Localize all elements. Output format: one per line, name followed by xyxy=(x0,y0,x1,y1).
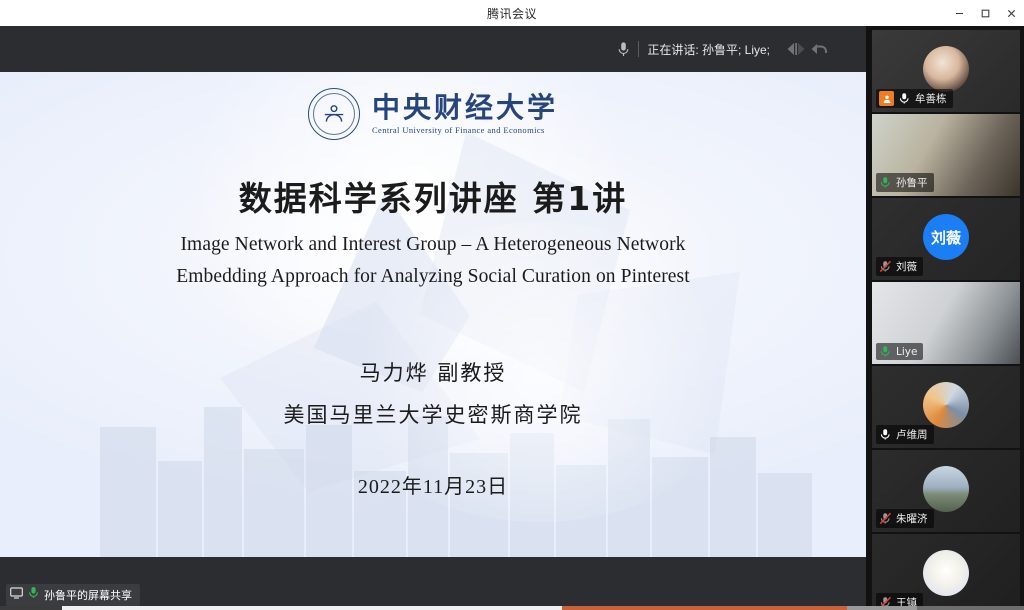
participant-tile[interactable]: 王镇 xyxy=(872,534,1020,610)
slide-paper-title: Image Network and Interest Group – A Het… xyxy=(0,229,866,292)
microphone-muted-icon xyxy=(879,512,892,525)
screen-share-status-bar: 孙鲁平的屏幕共享 xyxy=(0,584,866,606)
participant-name: 朱曜济 xyxy=(896,511,928,526)
participant-tile[interactable]: 孙鲁平 xyxy=(872,114,1020,196)
speaking-indicator: 正在讲话: 孙鲁平; Liye; xyxy=(610,35,830,63)
microphone-icon xyxy=(28,586,39,604)
microphone-icon xyxy=(879,345,892,358)
participant-name-bar: Liye xyxy=(876,343,923,360)
taskbar-segment xyxy=(62,606,562,610)
university-name-cn: 中央财经大学 xyxy=(372,93,558,124)
window-title-bar: 腾讯会议 xyxy=(0,0,1024,26)
shared-screen-stage[interactable]: 中央财经大学 Central University of Finance and… xyxy=(0,72,866,584)
university-logo: 中央财经大学 Central University of Finance and… xyxy=(0,88,866,140)
avatar xyxy=(923,466,969,512)
toolbar-arrow-group xyxy=(784,38,830,60)
os-taskbar xyxy=(0,606,1024,610)
window-title: 腾讯会议 xyxy=(487,5,537,22)
speaking-label: 正在讲话: 孙鲁平; Liye; xyxy=(647,41,770,58)
share-label: 孙鲁平的屏幕共享 xyxy=(44,587,132,603)
presentation-slide: 中央财经大学 Central University of Finance and… xyxy=(0,72,866,557)
participant-name: 孙鲁平 xyxy=(896,175,928,190)
slide-letterbox-footer xyxy=(0,557,866,584)
participant-name-bar: 卢维周 xyxy=(876,425,934,444)
meeting-toolbar: 正在讲话: 孙鲁平; Liye; xyxy=(0,26,866,72)
window-controls xyxy=(946,0,1024,26)
participant-name-bar: 牟善栋 xyxy=(876,89,953,108)
slide-series-title: 数据科学系列讲座 第1讲 xyxy=(0,172,866,220)
microphone-muted-icon xyxy=(879,260,892,273)
university-name-en: Central University of Finance and Econom… xyxy=(372,125,545,135)
avatar xyxy=(923,550,969,596)
participant-name: Liye xyxy=(896,346,917,358)
avatar xyxy=(923,382,969,428)
participant-rail[interactable]: 牟善栋孙鲁平刘薇刘薇Liye卢维周朱曜济王镇 xyxy=(866,26,1024,610)
close-icon[interactable] xyxy=(998,0,1024,26)
participant-name-bar: 刘薇 xyxy=(876,257,923,276)
taskbar-segment xyxy=(847,606,917,610)
slide-affiliation: 美国马里兰大学史密斯商学院 xyxy=(0,399,866,429)
taskbar-segment xyxy=(0,606,62,610)
participant-name-bar: 孙鲁平 xyxy=(876,173,934,192)
share-status-pill: 孙鲁平的屏幕共享 xyxy=(6,584,140,606)
collapse-arrows-icon[interactable] xyxy=(784,38,806,60)
paper-title-line-2: Embedding Approach for Analyzing Social … xyxy=(0,261,866,293)
taskbar-segment xyxy=(562,606,847,610)
microphone-icon[interactable] xyxy=(610,37,636,61)
microphone-icon xyxy=(879,176,892,189)
back-arrow-icon[interactable] xyxy=(808,38,830,60)
participant-tile[interactable]: 牟善栋 xyxy=(872,30,1020,112)
participant-name: 卢维周 xyxy=(896,427,928,442)
minimize-icon[interactable] xyxy=(946,0,972,26)
avatar xyxy=(923,46,969,92)
participant-name-bar: 朱曜济 xyxy=(876,509,934,528)
maximize-icon[interactable] xyxy=(972,0,998,26)
host-badge-icon xyxy=(879,91,894,106)
microphone-icon xyxy=(898,92,911,105)
participant-tile[interactable]: 卢维周 xyxy=(872,366,1020,448)
participant-tile[interactable]: 朱曜济 xyxy=(872,450,1020,532)
slide-speaker: 马力烨 副教授 xyxy=(0,357,866,387)
toolbar-divider xyxy=(638,41,639,57)
participant-tile[interactable]: Liye xyxy=(872,282,1020,364)
monitor-icon xyxy=(10,586,23,604)
avatar: 刘薇 xyxy=(923,214,969,260)
university-seal-icon xyxy=(308,88,360,140)
paper-title-line-1: Image Network and Interest Group – A Het… xyxy=(0,229,866,261)
participant-name: 牟善栋 xyxy=(915,91,947,106)
taskbar-segment xyxy=(917,606,1024,610)
slide-date: 2022年11月23日 xyxy=(0,470,866,499)
microphone-icon xyxy=(879,428,892,441)
participant-name: 刘薇 xyxy=(896,259,917,274)
participant-tile[interactable]: 刘薇刘薇 xyxy=(872,198,1020,280)
